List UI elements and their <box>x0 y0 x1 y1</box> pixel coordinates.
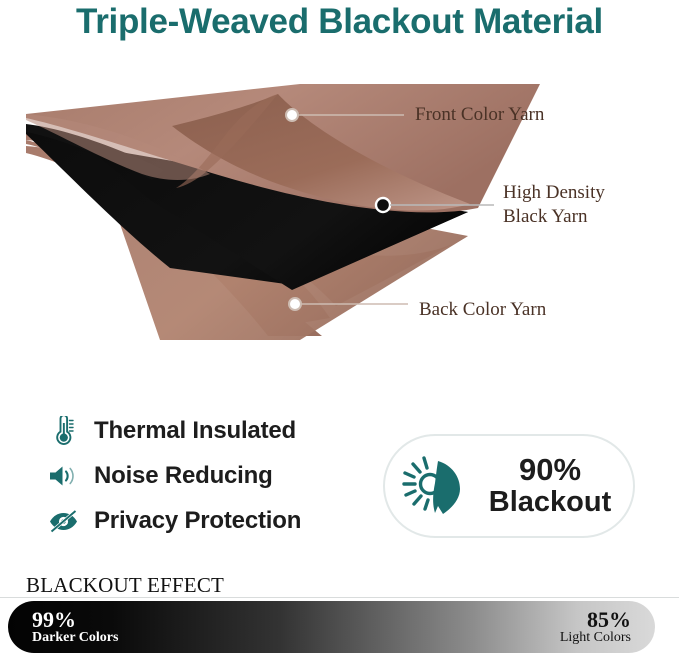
feature-label-thermal: Thermal Insulated <box>94 417 296 445</box>
blackout-word: Blackout <box>477 487 623 518</box>
page-title: Triple-Weaved Blackout Material <box>0 2 679 42</box>
bar-left-group: 99% Darker Colors <box>32 608 118 646</box>
label-back-color-yarn: Back Color Yarn <box>419 299 546 321</box>
bar-right-group: 85% Light Colors <box>560 608 631 646</box>
blackout-effect-heading: BLACKOUT EFFECT <box>26 573 224 598</box>
bar-right-percent: 85% <box>560 608 631 631</box>
product-infographic: Triple-Weaved Blackout Material <box>0 0 679 656</box>
feature-item-noise: Noise Reducing <box>46 453 376 498</box>
feature-list: Thermal Insulated Noise Reducing <box>46 408 376 543</box>
speaker-icon <box>46 459 80 493</box>
label-high-density-line1: High Density <box>503 182 605 203</box>
blackout-percent: 90% <box>477 454 623 487</box>
thermometer-icon <box>46 414 80 448</box>
eye-slash-icon <box>46 504 80 538</box>
blackout-effect-gradient-bar: 99% Darker Colors 85% Light Colors <box>8 601 655 653</box>
sun-blocked-icon <box>401 451 477 521</box>
feature-label-noise: Noise Reducing <box>94 462 273 490</box>
blackout-badge: 90% Blackout <box>383 434 635 538</box>
feature-label-privacy: Privacy Protection <box>94 507 301 535</box>
label-front-color-yarn: Front Color Yarn <box>415 104 544 126</box>
feature-item-thermal: Thermal Insulated <box>46 408 376 453</box>
label-high-density-black-yarn: High Density Black Yarn <box>503 181 605 229</box>
blackout-badge-text: 90% Blackout <box>477 454 633 518</box>
feature-item-privacy: Privacy Protection <box>46 498 376 543</box>
bar-left-percent: 99% <box>32 608 118 631</box>
bar-right-label: Light Colors <box>560 631 631 646</box>
bar-left-label: Darker Colors <box>32 631 118 646</box>
label-high-density-line2: Black Yarn <box>503 206 587 227</box>
